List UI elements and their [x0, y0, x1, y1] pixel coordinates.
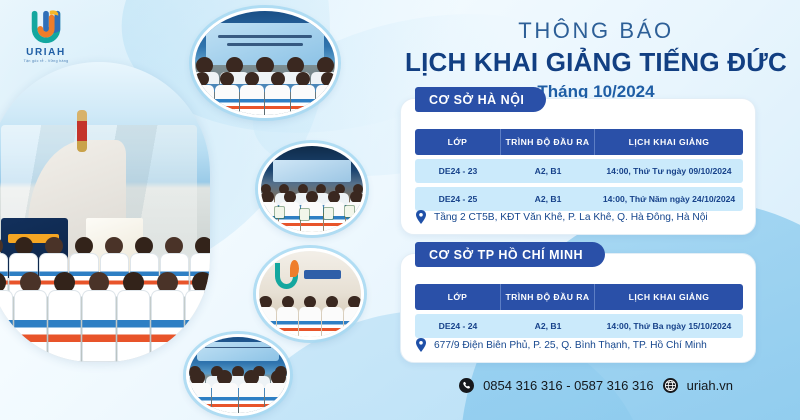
photo-circle-group: [186, 334, 290, 416]
column-header-class: LỚP: [415, 284, 501, 310]
page-title: LỊCH KHAI GIẢNG TIẾNG ĐỨC: [392, 47, 800, 78]
campus-address-hcm: 677/9 Điện Biên Phủ, P. 25, Q. Bình Thạn…: [415, 338, 707, 353]
table-row: DE24 - 23 A2, B1 14:00, Thứ Tư ngày 09/1…: [415, 159, 743, 183]
table-header-row: LỚP TRÌNH ĐỘ ĐẦU RA LỊCH KHAI GIẢNG: [415, 284, 743, 310]
poster-root: URIAH Tận gốc rễ - Vững hàng: [0, 0, 800, 420]
campus-address-hanoi: Tầng 2 CT5B, KĐT Văn Khê, P. La Khê, Q. …: [415, 210, 708, 225]
globe-icon: [663, 378, 678, 393]
photo-collage: [0, 0, 400, 420]
cell-class: DE24 - 23: [415, 159, 501, 183]
contact-phones[interactable]: 0854 316 316 - 0587 316 316: [483, 378, 654, 393]
campus-card-hcm: CƠ SỞ TP HỒ CHÍ MINH LỚP TRÌNH ĐỘ ĐẦU RA…: [400, 253, 756, 363]
cell-level: A2, B1: [501, 187, 595, 211]
column-header-date: LỊCH KHAI GIẢNG: [595, 129, 743, 155]
photo-dome-group: [0, 62, 210, 362]
column-header-level: TRÌNH ĐỘ ĐẦU RA: [501, 284, 595, 310]
cell-date: 14:00, Thứ Tư ngày 09/10/2024: [595, 159, 743, 183]
table-header-row: LỚP TRÌNH ĐỘ ĐẦU RA LỊCH KHAI GIẢNG: [415, 129, 743, 155]
cell-level: A2, B1: [501, 314, 595, 338]
cell-date: 14:00, Thứ Ba ngày 15/10/2024: [595, 314, 743, 338]
cell-class: DE24 - 24: [415, 314, 501, 338]
cell-level: A2, B1: [501, 159, 595, 183]
schedule-table-hcm: LỚP TRÌNH ĐỘ ĐẦU RA LỊCH KHAI GIẢNG DE24…: [415, 280, 743, 342]
phone-icon: [459, 378, 474, 393]
info-panel: THÔNG BÁO LỊCH KHAI GIẢNG TIẾNG ĐỨC Thán…: [392, 0, 800, 420]
address-text: 677/9 Điện Biên Phủ, P. 25, Q. Bình Thạn…: [434, 340, 707, 351]
campus-card-hanoi: CƠ SỞ HÀ NỘI LỚP TRÌNH ĐỘ ĐẦU RA LỊCH KH…: [400, 98, 756, 235]
cell-date: 14:00, Thứ Năm ngày 24/10/2024: [595, 187, 743, 211]
address-text: Tầng 2 CT5B, KĐT Văn Khê, P. La Khê, Q. …: [434, 212, 708, 223]
photo-circle-ceremony: [192, 8, 338, 118]
campus-badge-hcm: CƠ SỞ TP HỒ CHÍ MINH: [415, 242, 605, 267]
column-header-date: LỊCH KHAI GIẢNG: [595, 284, 743, 310]
table-row: DE24 - 24 A2, B1 14:00, Thứ Ba ngày 15/1…: [415, 314, 743, 338]
column-header-class: LỚP: [415, 129, 501, 155]
table-row: DE24 - 25 A2, B1 14:00, Thứ Năm ngày 24/…: [415, 187, 743, 211]
cell-class: DE24 - 25: [415, 187, 501, 211]
photo-circle-students: [256, 248, 364, 340]
contact-website[interactable]: uriah.vn: [687, 378, 733, 393]
contact-bar: 0854 316 316 - 0587 316 316 uriah.vn: [392, 378, 800, 393]
schedule-table-hanoi: LỚP TRÌNH ĐỘ ĐẦU RA LỊCH KHAI GIẢNG DE24…: [415, 125, 743, 215]
heading-eyebrow: THÔNG BÁO: [392, 18, 800, 44]
campus-badge-hanoi: CƠ SỞ HÀ NỘI: [415, 87, 546, 112]
location-pin-icon: [415, 210, 427, 225]
column-header-level: TRÌNH ĐỘ ĐẦU RA: [501, 129, 595, 155]
photo-circle-hall: [258, 143, 366, 235]
location-pin-icon: [415, 338, 427, 353]
